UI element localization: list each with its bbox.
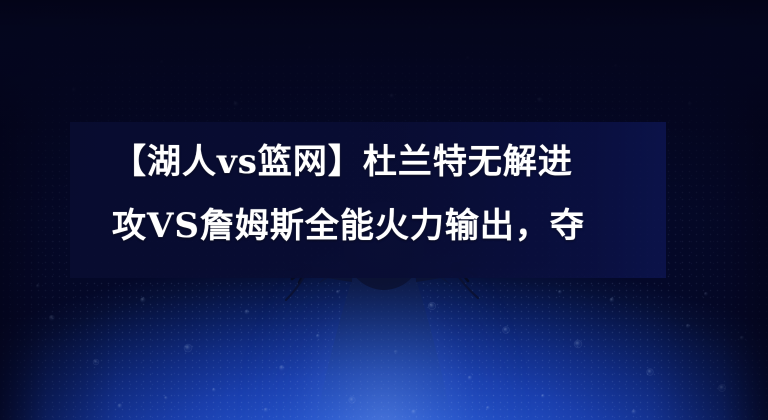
caption-line-2: 攻VS詹姆斯全能火力输出，夺: [70, 194, 666, 258]
caption-line-1: 【湖人vs篮网】杜兰特无解进: [70, 130, 666, 194]
cover-image-canvas: 【湖人vs篮网】杜兰特无解进 攻VS詹姆斯全能火力输出，夺: [0, 0, 768, 420]
caption-banner: 【湖人vs篮网】杜兰特无解进 攻VS詹姆斯全能火力输出，夺: [70, 122, 666, 278]
